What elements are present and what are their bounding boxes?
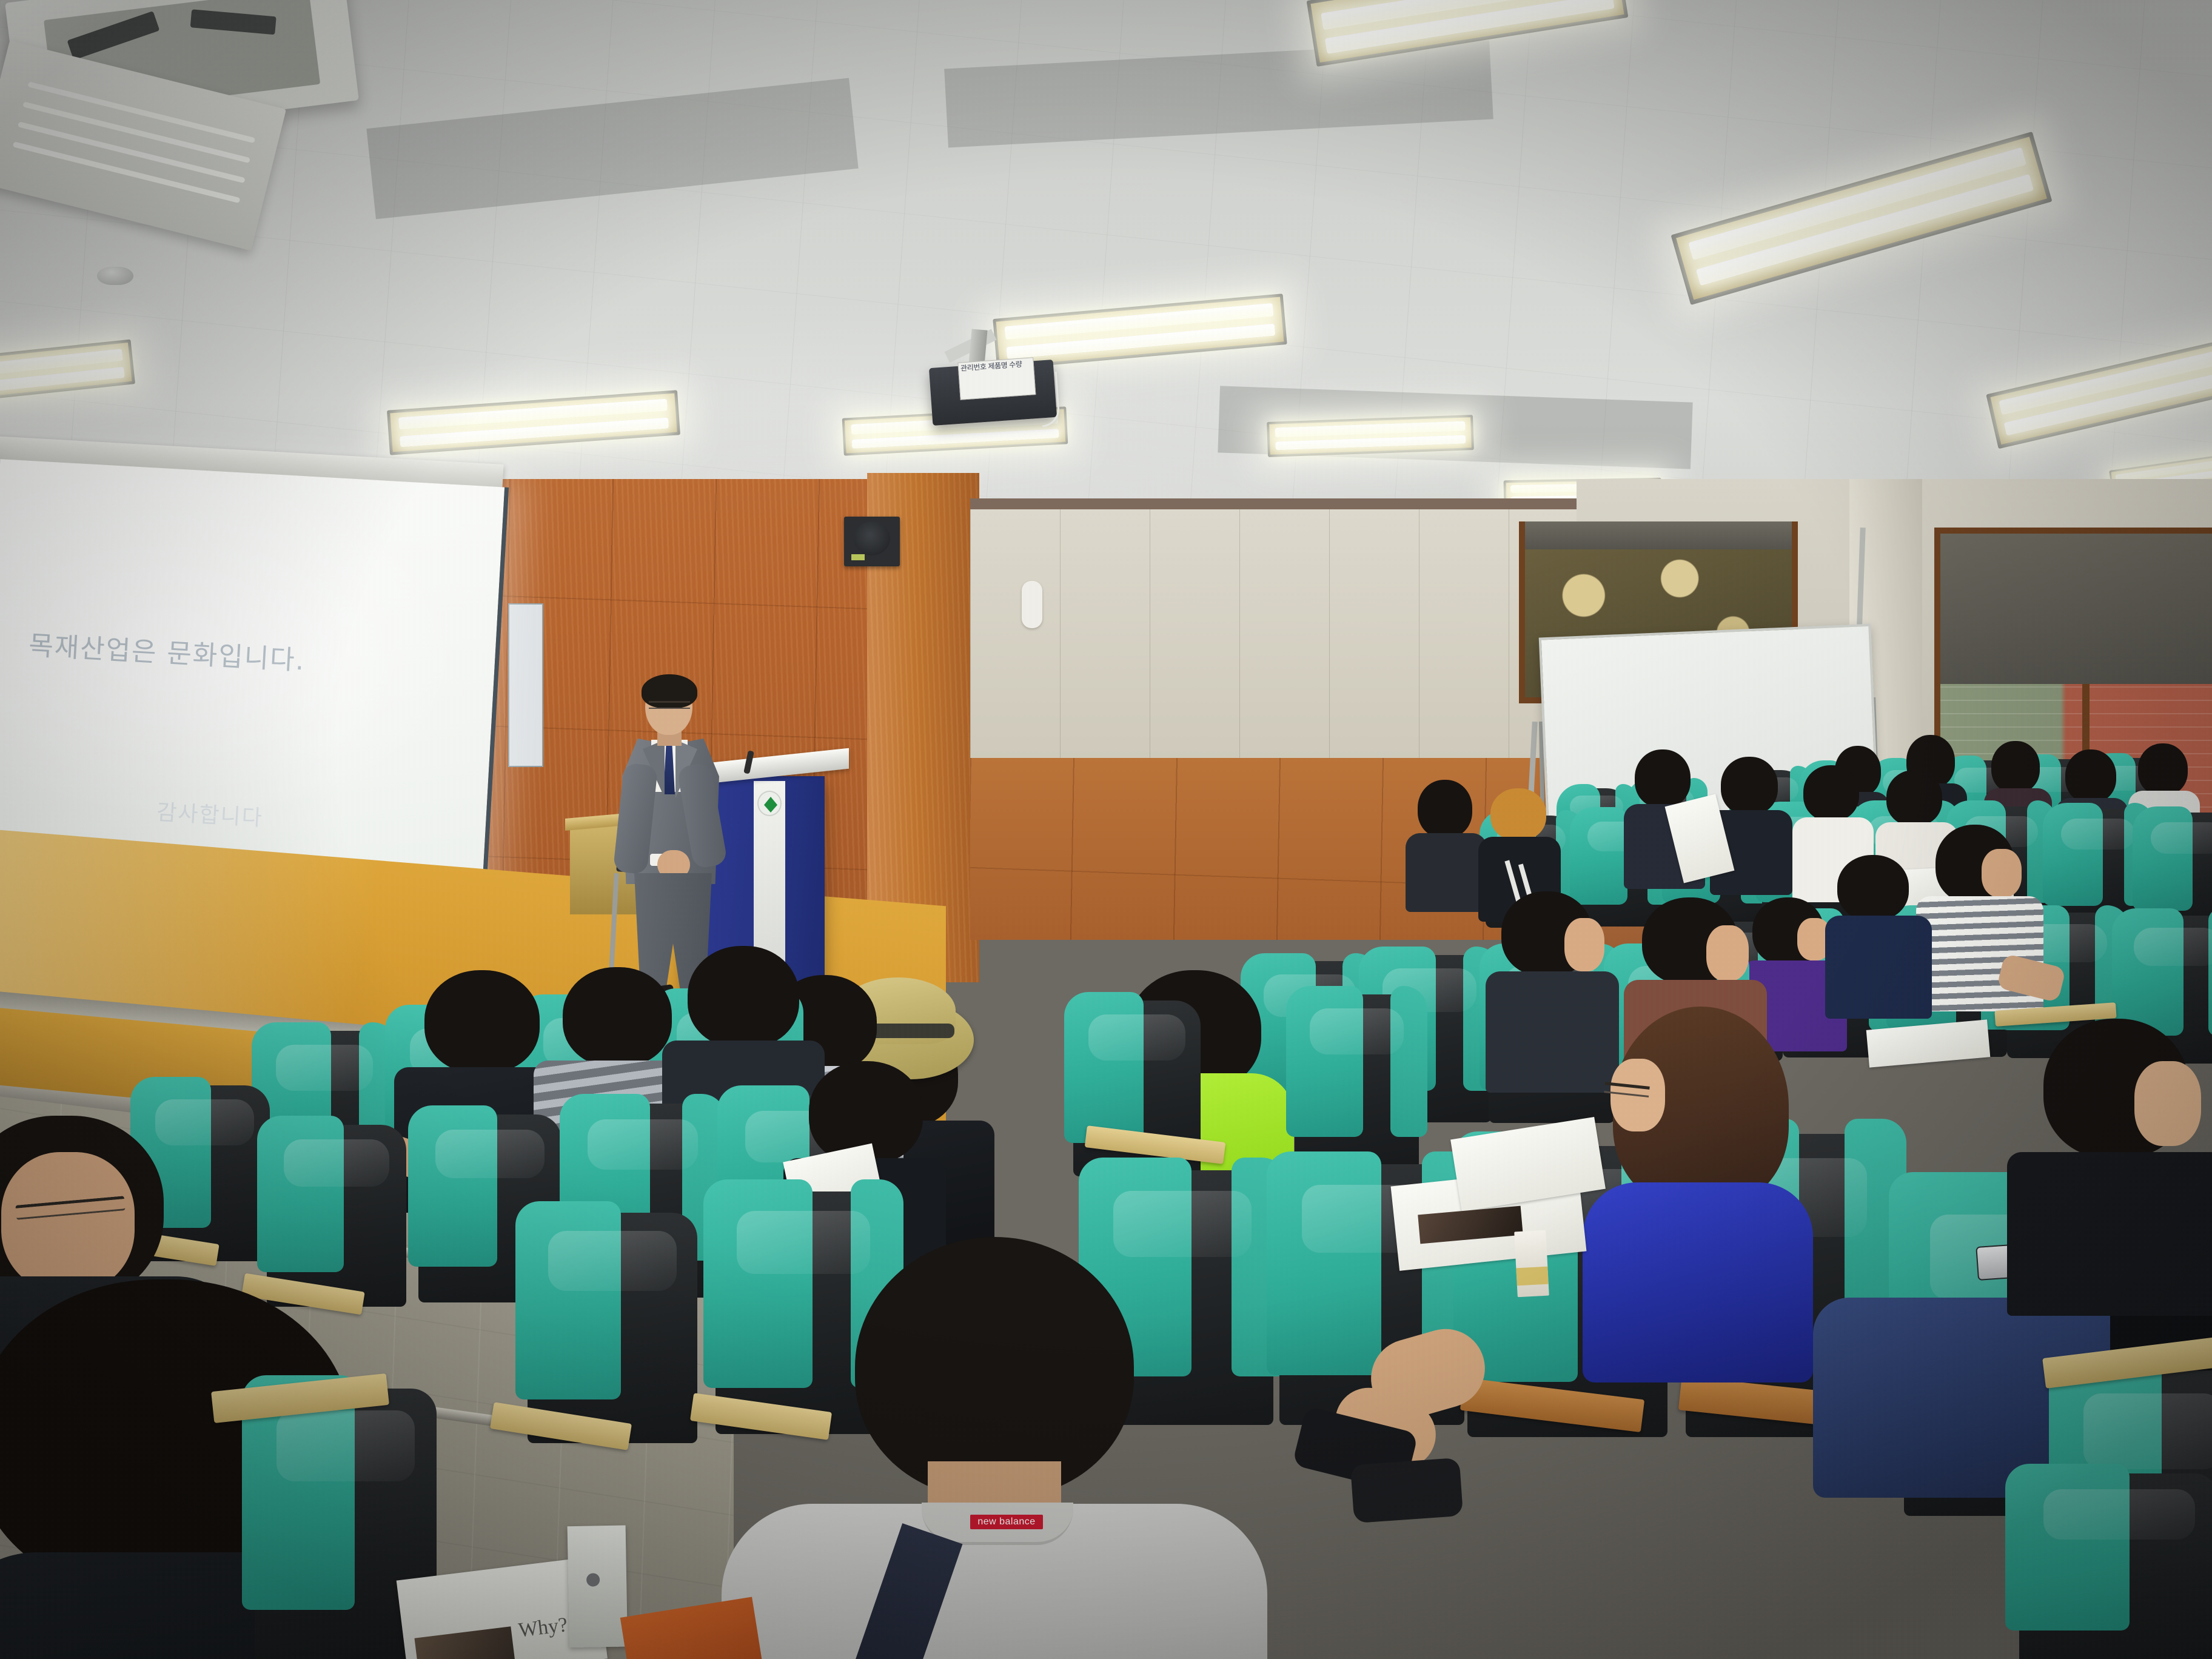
attendee bbox=[2019, 1019, 2212, 1310]
attendee-blue-dress bbox=[1589, 1007, 1807, 1382]
auditorium-seat[interactable] bbox=[528, 1213, 697, 1443]
podium-emblem-icon bbox=[757, 791, 782, 816]
wall-upper-panel bbox=[970, 509, 1577, 764]
drink-carton bbox=[1514, 1230, 1549, 1298]
eyeglasses-icon bbox=[649, 701, 690, 709]
booklet-logo-icon bbox=[586, 1573, 600, 1586]
auditorium-seat[interactable] bbox=[1295, 994, 1419, 1170]
sneaker bbox=[1350, 1458, 1463, 1523]
auditorium-seat[interactable] bbox=[2019, 1473, 2212, 1659]
ceiling-projector: 관리번호 제품명 수량 bbox=[929, 360, 1057, 426]
window-blind[interactable] bbox=[1525, 521, 1792, 549]
window-blind[interactable] bbox=[1940, 534, 2212, 685]
wall-notice-panel bbox=[508, 603, 543, 767]
hair bbox=[855, 1237, 1134, 1498]
attendee bbox=[1414, 780, 1481, 871]
projector-label: 관리번호 제품명 수량 bbox=[957, 357, 1036, 400]
attendee bbox=[1831, 855, 1922, 982]
attendee bbox=[1717, 757, 1785, 854]
smoke-detector-icon bbox=[97, 267, 133, 285]
tshirt-brand-tag: new balance bbox=[970, 1515, 1043, 1529]
attendee bbox=[1800, 765, 1868, 860]
lecture-hall-photo: 관리번호 제품명 수량 목재산업은 문화입니다. 감사합니다 bbox=[0, 0, 2212, 1659]
attendee bbox=[1487, 788, 1555, 879]
wall-speaker-icon bbox=[844, 517, 900, 566]
ceiling-light bbox=[1267, 415, 1474, 457]
foreground-attendee-grey-shirt: new balance bbox=[685, 1261, 1292, 1659]
attendee-striped-shirt bbox=[1922, 825, 2031, 1000]
booklet-insert bbox=[568, 1526, 628, 1648]
light-switch[interactable] bbox=[1022, 581, 1042, 628]
